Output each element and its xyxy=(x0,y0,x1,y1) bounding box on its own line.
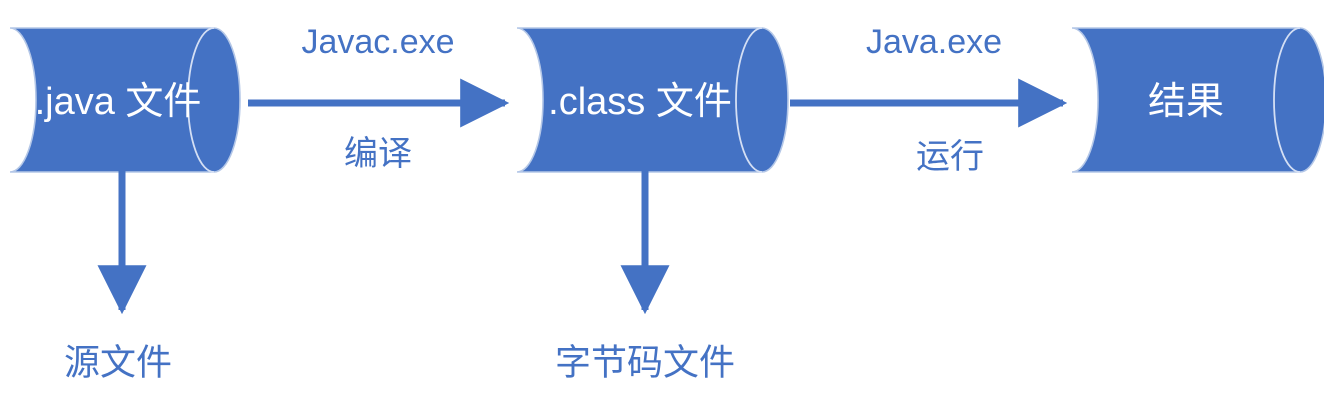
edge-run-bottom-label: 运行 xyxy=(916,138,984,176)
annotation-bytecode-label: 字节码文件 xyxy=(555,342,735,383)
node-bytecode-file[interactable]: .class 文件 xyxy=(517,28,788,172)
edge-compile-bottom-label: 编译 xyxy=(344,135,412,173)
node-label-source: .java 文件 xyxy=(35,81,202,123)
java-flow-diagram: .java 文件 .class 文件 结果 Javac.exe 编译 xyxy=(0,0,1324,416)
diagram-canvas: .java 文件 .class 文件 结果 Javac.exe 编译 xyxy=(0,0,1324,416)
edge-run-top-label: Java.exe xyxy=(866,23,1002,61)
node-label-result: 结果 xyxy=(1148,81,1224,123)
node-label-bytecode: .class 文件 xyxy=(548,81,732,123)
annotation-source-label: 源文件 xyxy=(64,342,172,383)
edge-compile-top-label: Javac.exe xyxy=(301,23,454,61)
node-result[interactable]: 结果 xyxy=(1072,28,1324,172)
